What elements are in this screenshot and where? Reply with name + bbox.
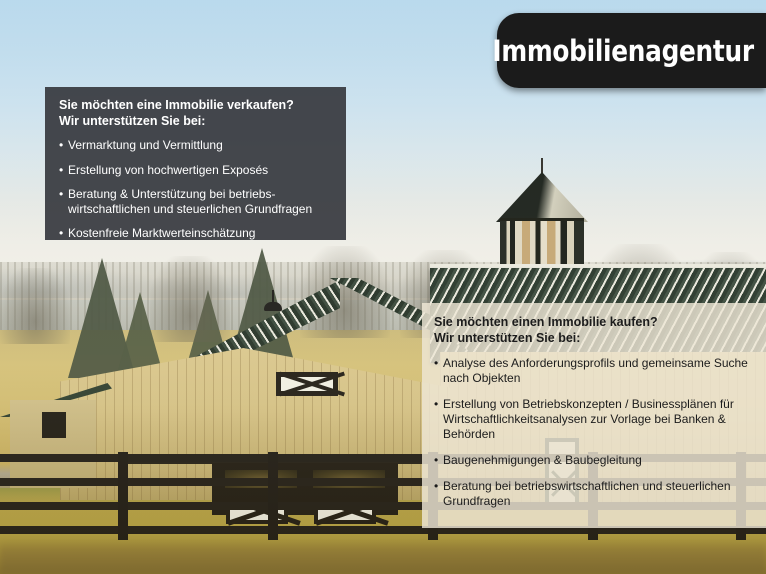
sell-panel-list: Vermarktung und Vermittlung Erstellung v… [59,138,334,241]
list-item: Erstellung von hochwertigen Exposés [59,163,334,178]
sell-panel: Sie möchten eine Immobilie verkaufen? Wi… [45,87,346,240]
barn-lamp-icon [264,302,282,311]
sell-panel-heading: Sie möchten eine Immobilie verkaufen? Wi… [59,97,334,129]
loft-window [276,372,338,396]
fence-post [118,452,128,540]
cupola-spire [541,158,543,174]
buy-panel-list: Analyse des Anforderungsprofils und geme… [434,356,756,509]
list-item: Analyse des Anforderungsprofils und geme… [434,356,756,386]
list-item: Erstellung von Betriebskonzepten / Busin… [434,397,756,442]
page-title: Immobilienagentur [492,34,766,68]
list-item: Baugenehmigungen & Baubegleitung [434,453,756,468]
buy-heading-line-2: Wir unterstützen Sie bei: [434,330,756,346]
list-item: Kostenfreie Marktwerteinschätzung [59,226,334,241]
buy-panel: Sie möchten einen Immobilie kaufen? Wir … [422,303,766,528]
sell-heading-line-2: Wir unterstützen Sie bei: [59,113,334,129]
sell-heading-line-1: Sie möchten eine Immobilie verkaufen? [59,97,334,113]
leanto-window [42,412,66,438]
header-bar: Immobilienagentur [497,13,766,88]
cupola-roof [496,172,588,222]
list-item: Vermarktung und Vermittlung [59,138,334,153]
slide-canvas: Immobilienagentur Sie möchten eine Immob… [0,0,766,574]
buy-heading-line-1: Sie möchten einen Immobilie kaufen? [434,314,756,330]
list-item: Beratung bei betriebswirtschaftlichen un… [434,479,756,509]
list-item: Beratung & Unterstützung bei betriebs- w… [59,187,334,216]
buy-panel-heading: Sie möchten einen Immobilie kaufen? Wir … [434,314,756,346]
fence-post [268,452,278,540]
